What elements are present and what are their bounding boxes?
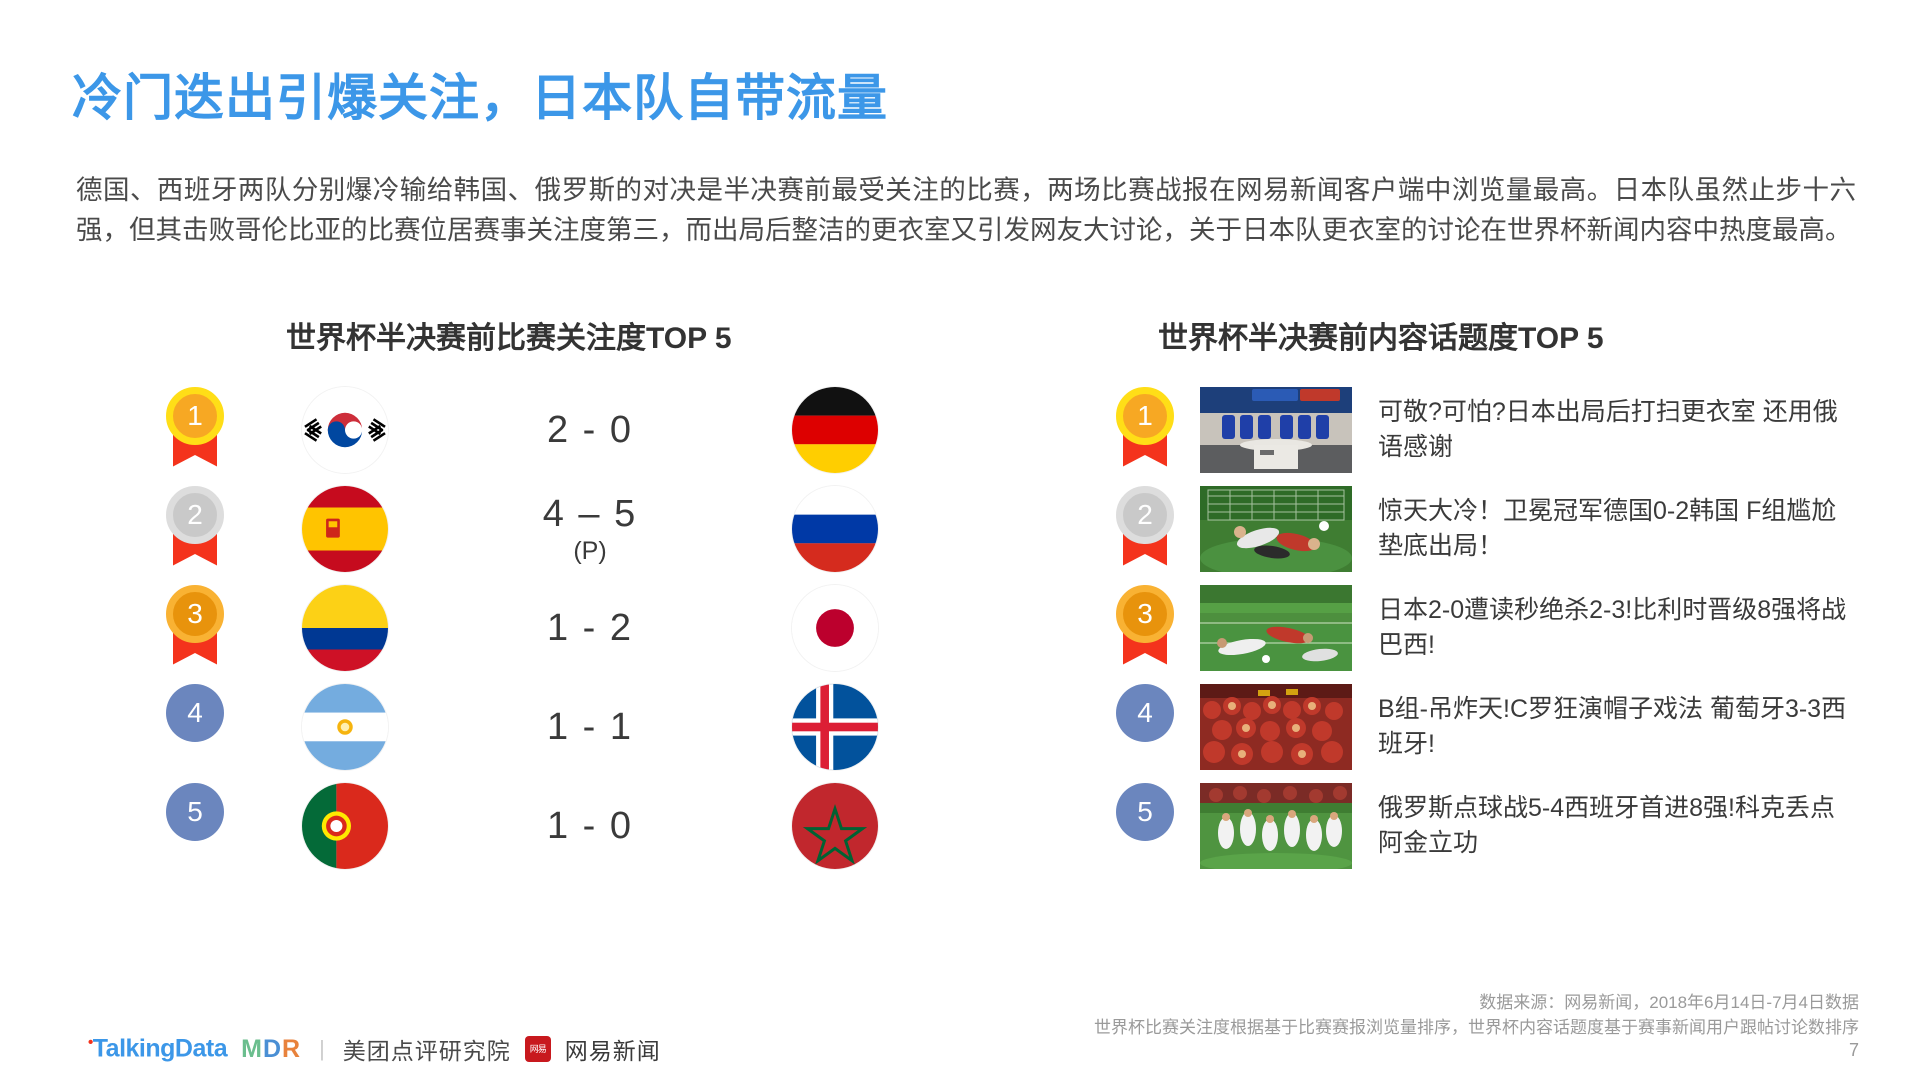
- medal-icon: 5: [1116, 783, 1174, 841]
- article-thumbnail-red-crowd-photo[interactable]: [1200, 684, 1352, 770]
- match-row: 2 4 – 5(P): [120, 479, 910, 578]
- rank-cell: 1: [120, 387, 270, 473]
- score-cell: 4 – 5(P): [420, 492, 760, 566]
- intro-paragraph: 德国、西班牙两队分别爆冷输给韩国、俄罗斯的对决是半决赛前最受关注的比赛，两场比赛…: [76, 170, 1856, 250]
- rank-badge-5: 5: [162, 783, 228, 869]
- flag-icon-russia: [792, 486, 878, 572]
- rank-badge-1: 1: [1112, 387, 1178, 473]
- article-thumbnail-pitch-players-photo[interactable]: [1200, 585, 1352, 671]
- rank-cell: 2: [1090, 486, 1200, 572]
- article-title[interactable]: 可敬?可怕?日本出局后打扫更衣室 还用俄语感谢: [1378, 395, 1858, 465]
- flag-icon-spain: [302, 486, 388, 572]
- article-thumbnail-goal-save-photo[interactable]: [1200, 486, 1352, 572]
- score-value: 4 – 5: [420, 492, 760, 536]
- slide: 冷门迭出引爆关注，日本队自带流量 德国、西班牙两队分别爆冷输给韩国、俄罗斯的对决…: [0, 0, 1921, 1080]
- page-title: 冷门迭出引爆关注，日本队自带流量: [72, 58, 888, 130]
- match-row: 5 1 - 0: [120, 776, 910, 875]
- medal-icon: 1: [166, 387, 224, 445]
- footnote-method: 世界杯比赛关注度根据基于比赛赛报浏览量排序，世界杯内容话题度基于赛事新闻用户跟帖…: [1094, 1015, 1859, 1040]
- match-row: 1 2 - 0: [120, 380, 910, 479]
- rank-badge-4: 4: [162, 684, 228, 770]
- article-row[interactable]: 1 可敬?可怕?日本出局后打扫更衣室 还用俄语感谢: [1090, 380, 1880, 479]
- medal-icon: 2: [166, 486, 224, 544]
- netease-logo: 网易新闻: [565, 1032, 661, 1066]
- score-value: 2 - 0: [420, 408, 760, 452]
- article-title[interactable]: 俄罗斯点球战5-4西班牙首进8强!科克丢点阿金立功: [1378, 791, 1858, 861]
- away-flag-cell: [760, 486, 910, 572]
- score-cell: 1 - 1: [420, 705, 760, 749]
- rank-cell: 4: [120, 684, 270, 770]
- footer-logos: •TalkingData MDR | 美团点评研究院 网易 网易新闻: [88, 1032, 661, 1066]
- medal-icon: 3: [1116, 585, 1174, 643]
- flag-icon-germany: [792, 387, 878, 473]
- medal-icon: 3: [166, 585, 224, 643]
- flag-icon-iceland: [792, 684, 878, 770]
- rank-badge-4: 4: [1112, 684, 1178, 770]
- mdr-logo: MDR: [241, 1035, 301, 1064]
- rank-badge-5: 5: [1112, 783, 1178, 869]
- meituan-logo: 美团点评研究院: [343, 1032, 511, 1066]
- flag-icon-argentina: [302, 684, 388, 770]
- talkingdata-logo: •TalkingData: [88, 1034, 227, 1063]
- article-row[interactable]: 4 B组-吊炸天!C罗狂演帽子戏法 葡萄牙3-3西班牙!: [1090, 677, 1880, 776]
- home-flag-cell: [270, 486, 420, 572]
- match-attention-list: 1 2 - 02 4 – 5(P)31 - 24 1 - 1 5 1 - 0: [120, 380, 910, 875]
- medal-icon: 2: [1116, 486, 1174, 544]
- rank-cell: 4: [1090, 684, 1200, 770]
- flag-icon-japan: [792, 585, 878, 671]
- home-flag-cell: [270, 387, 420, 473]
- score-value: 1 - 2: [420, 606, 760, 650]
- flag-icon-morocco: [792, 783, 878, 869]
- home-flag-cell: [270, 684, 420, 770]
- match-row: 4 1 - 1: [120, 677, 910, 776]
- match-row: 31 - 2: [120, 578, 910, 677]
- rank-cell: 1: [1090, 387, 1200, 473]
- logo-divider: |: [319, 1036, 325, 1062]
- rank-cell: 3: [120, 585, 270, 671]
- article-title[interactable]: B组-吊炸天!C罗狂演帽子戏法 葡萄牙3-3西班牙!: [1378, 692, 1858, 762]
- flag-icon-portugal: [302, 783, 388, 869]
- footnote-source: 数据来源：网易新闻，2018年6月14日-7月4日数据: [1094, 990, 1859, 1015]
- score-note: (P): [420, 536, 760, 566]
- rank-badge-1: 1: [162, 387, 228, 473]
- score-cell: 1 - 2: [420, 606, 760, 650]
- article-thumbnail-locker-room-photo[interactable]: [1200, 387, 1352, 473]
- flag-icon-south-korea: [302, 387, 388, 473]
- medal-icon: 4: [1116, 684, 1174, 742]
- score-cell: 1 - 0: [420, 804, 760, 848]
- away-flag-cell: [760, 684, 910, 770]
- article-row[interactable]: 2 惊天大冷！卫冕冠军德国0-2韩国 F组尴尬垫底出局！: [1090, 479, 1880, 578]
- medal-icon: 1: [1116, 387, 1174, 445]
- score-cell: 2 - 0: [420, 408, 760, 452]
- score-value: 1 - 0: [420, 804, 760, 848]
- rank-badge-3: 3: [1112, 585, 1178, 671]
- page-number: 7: [1849, 1040, 1859, 1061]
- medal-icon: 5: [166, 783, 224, 841]
- away-flag-cell: [760, 585, 910, 671]
- rank-badge-3: 3: [162, 585, 228, 671]
- rank-badge-2: 2: [1112, 486, 1178, 572]
- rank-cell: 2: [120, 486, 270, 572]
- flag-icon-colombia: [302, 585, 388, 671]
- article-topic-list: 1 可敬?可怕?日本出局后打扫更衣室 还用俄语感谢2 惊天大冷: [1090, 380, 1880, 875]
- rank-badge-2: 2: [162, 486, 228, 572]
- article-thumbnail-celebration-photo[interactable]: [1200, 783, 1352, 869]
- right-section-header: 世界杯半决赛前内容话题度TOP 5: [1158, 313, 1604, 357]
- article-title[interactable]: 日本2-0遭读秒绝杀2-3!比利时晋级8强将战巴西!: [1378, 593, 1858, 663]
- score-value: 1 - 1: [420, 705, 760, 749]
- away-flag-cell: [760, 783, 910, 869]
- home-flag-cell: [270, 585, 420, 671]
- netease-badge-icon: 网易: [525, 1036, 551, 1062]
- home-flag-cell: [270, 783, 420, 869]
- rank-cell: 5: [120, 783, 270, 869]
- rank-cell: 5: [1090, 783, 1200, 869]
- article-row[interactable]: 5 俄罗斯点球战5-4西班牙首进8强!科克丢点阿金立功: [1090, 776, 1880, 875]
- article-title[interactable]: 惊天大冷！卫冕冠军德国0-2韩国 F组尴尬垫底出局！: [1378, 494, 1858, 564]
- footnote: 数据来源：网易新闻，2018年6月14日-7月4日数据 世界杯比赛关注度根据基于…: [1094, 990, 1859, 1040]
- left-section-header: 世界杯半决赛前比赛关注度TOP 5: [286, 313, 732, 357]
- rank-cell: 3: [1090, 585, 1200, 671]
- article-row[interactable]: 3 日本2-0遭读秒绝杀2-3!比利时晋级8强将战巴西!: [1090, 578, 1880, 677]
- medal-icon: 4: [166, 684, 224, 742]
- away-flag-cell: [760, 387, 910, 473]
